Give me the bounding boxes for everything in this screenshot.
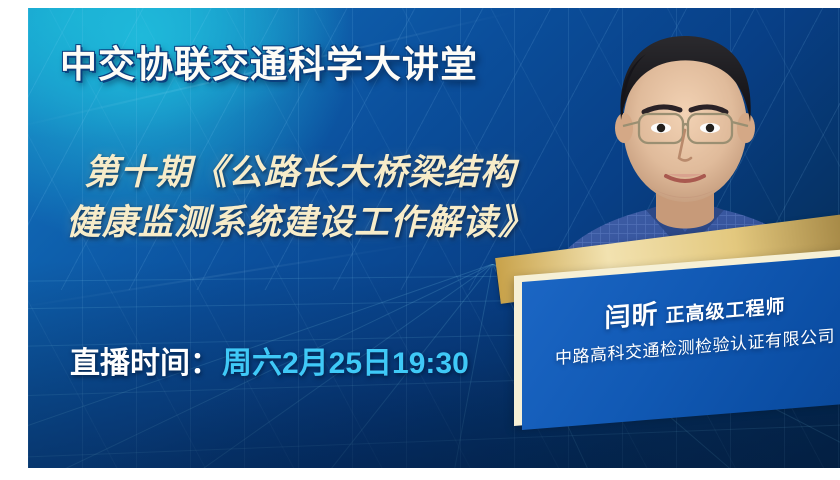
speaker-card: 闫昕正高级工程师 中路高科交通检测检验认证有限公司 [490,258,840,448]
page-title: 中交协联交通科学大讲堂 [60,34,478,88]
episode-subtitle-line-1: 第十期《公路长大桥梁结构 [66,148,586,198]
live-time-row: 直播时间：周六2月25日19:30 [70,338,469,382]
speaker-name: 闫昕 [604,299,658,333]
poster-stage: 中交协联交通科学大讲堂 第十期《公路长大桥梁结构 健康监测系统建设工作解读》 直… [28,8,840,468]
poster-root: 中交协联交通科学大讲堂 第十期《公路长大桥梁结构 健康监测系统建设工作解读》 直… [0,0,840,480]
live-time-label: 直播时间： [70,347,220,380]
speaker-role: 正高级工程师 [666,296,786,327]
episode-subtitle: 第十期《公路长大桥梁结构 健康监测系统建设工作解读》 [66,148,586,248]
live-time-value: 周六2月25日19:30 [222,347,469,380]
episode-subtitle-line-2: 健康监测系统建设工作解读》 [66,198,586,248]
speaker-card-content: 闫昕正高级工程师 中路高科交通检测检验认证有限公司 [530,255,840,428]
